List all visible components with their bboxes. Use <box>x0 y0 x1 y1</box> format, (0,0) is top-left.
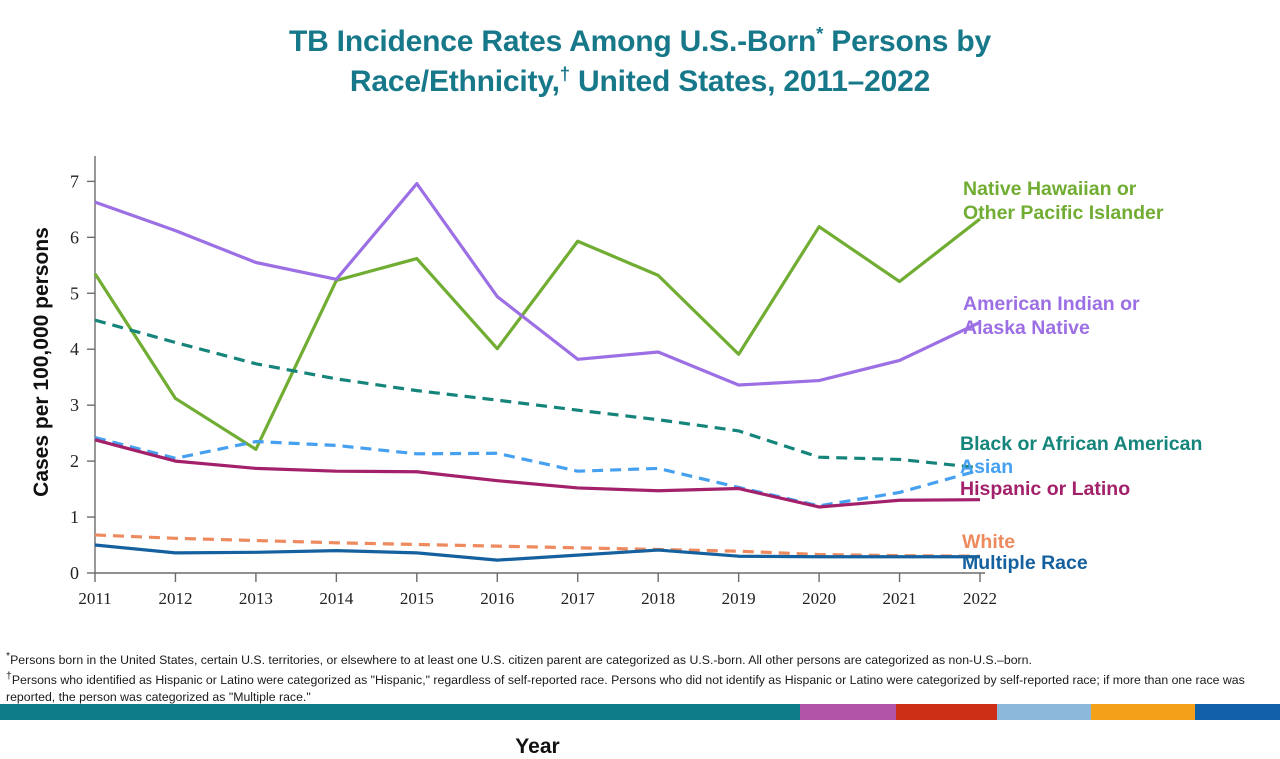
footer-bar-segment-teal <box>0 704 800 720</box>
y-tick-label: 5 <box>70 283 79 303</box>
x-tick-label: 2020 <box>802 589 836 608</box>
legend-label-hispanic-or-latino: Hispanic or Latino <box>960 478 1130 502</box>
x-tick-label: 2021 <box>883 589 917 608</box>
footnote-1-text: Persons born in the United States, certa… <box>10 653 1032 667</box>
x-tick-label: 2016 <box>480 589 514 608</box>
title-line-2-text: Race/Ethnicity, <box>350 65 560 98</box>
title-line-1: TB Incidence Rates Among U.S.-Born* Pers… <box>0 22 1280 62</box>
title-line-1-text: TB Incidence Rates Among U.S.-Born <box>289 25 816 58</box>
x-axis-title: Year <box>95 735 980 759</box>
footer-bar-segment-light-blue <box>997 704 1091 720</box>
x-tick-label: 2015 <box>400 589 434 608</box>
series-line-hispanic-or-latino <box>95 440 980 507</box>
x-tick-label: 2013 <box>239 589 273 608</box>
x-tick-label: 2018 <box>641 589 675 608</box>
title-dagger-marker: † <box>560 63 570 84</box>
page-title: TB Incidence Rates Among U.S.-Born* Pers… <box>0 22 1280 101</box>
legend-label-native-hawaiian-or-other-pacific-islander: Native Hawaiian orOther Pacific Islander <box>963 178 1164 226</box>
x-tick-label: 2019 <box>722 589 756 608</box>
slide-root: TB Incidence Rates Among U.S.-Born* Pers… <box>0 0 1280 720</box>
series-line-asian <box>95 438 980 506</box>
title-line-2: Race/Ethnicity,† United States, 2011–202… <box>0 62 1280 102</box>
title-line-1-suffix: Persons by <box>823 25 991 58</box>
footer-bar-segment-purple <box>800 704 896 720</box>
x-tick-label: 2011 <box>78 589 111 608</box>
legend-label-line-1: Multiple Race <box>962 552 1088 576</box>
footer-bar-segment-red <box>896 704 997 720</box>
footer-bar-segment-orange <box>1091 704 1194 720</box>
legend-label-line-1: American Indian or <box>963 293 1140 317</box>
footer-bar-segment-blue <box>1195 704 1280 720</box>
legend-label-black-or-african-american: Black or African American <box>960 433 1202 457</box>
x-tick-label: 2022 <box>963 589 997 608</box>
legend-label-line-1: Asian <box>960 456 1013 480</box>
legend-label-line-1: Hispanic or Latino <box>960 478 1130 502</box>
decorative-footer-bar <box>0 704 1280 720</box>
y-tick-label: 0 <box>70 563 79 583</box>
y-tick-label: 7 <box>70 171 79 191</box>
y-tick-label: 2 <box>70 451 79 471</box>
y-tick-label: 1 <box>70 507 79 527</box>
series-line-native-hawaiian-or-other-pacific-islander <box>95 219 980 449</box>
footnote-1: *Persons born in the United States, cert… <box>6 650 1274 670</box>
legend-label-line-2: Other Pacific Islander <box>963 202 1164 226</box>
x-tick-label: 2014 <box>319 589 354 608</box>
y-tick-label: 6 <box>70 227 79 247</box>
series-line-american-indian-or-alaska-native <box>95 184 980 385</box>
series-line-black-or-african-american <box>95 320 980 468</box>
y-tick-label: 3 <box>70 395 79 415</box>
footnote-2-text: Persons who identified as Hispanic or La… <box>6 673 1245 704</box>
footnotes: *Persons born in the United States, cert… <box>6 650 1274 707</box>
footnote-2: †Persons who identified as Hispanic or L… <box>6 670 1274 707</box>
x-tick-label: 2012 <box>158 589 192 608</box>
legend-label-line-1: Black or African American <box>960 433 1202 457</box>
legend-label-line-1: Native Hawaiian or <box>963 178 1164 202</box>
legend-label-american-indian-or-alaska-native: American Indian orAlaska Native <box>963 293 1140 341</box>
title-line-2-suffix: United States, 2011–2022 <box>570 65 930 98</box>
legend-label-line-2: Alaska Native <box>963 317 1140 341</box>
legend-label-multiple-race: Multiple Race <box>962 552 1088 576</box>
x-tick-label: 2017 <box>561 589 596 608</box>
y-tick-label: 4 <box>70 339 79 359</box>
legend-label-asian: Asian <box>960 456 1013 480</box>
